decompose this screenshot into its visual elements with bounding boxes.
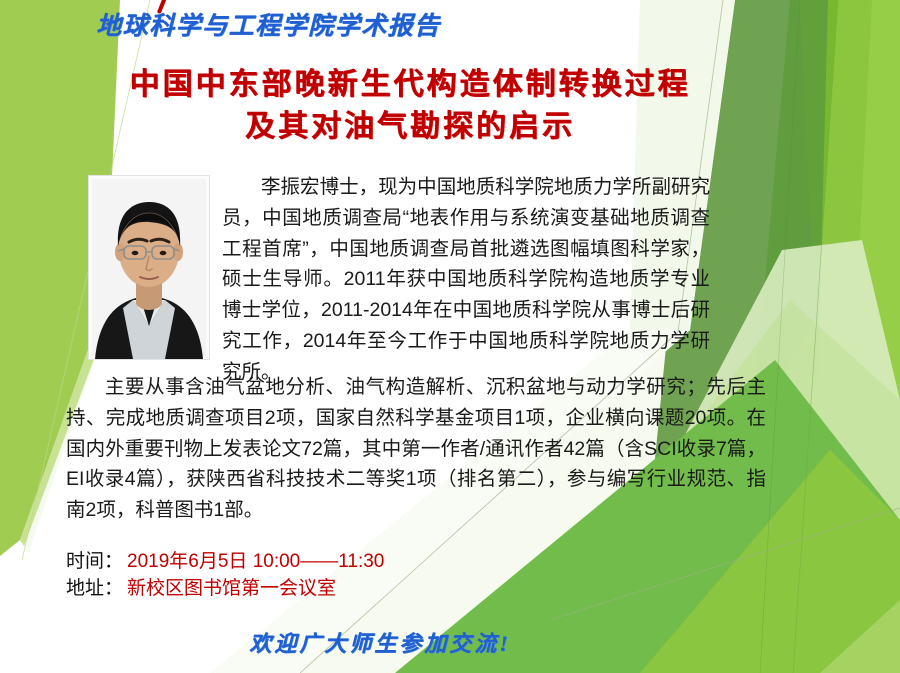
speaker-research-paragraph: 主要从事含油气盆地分析、油气构造解析、沉积盆地与动力学研究；先后主持、完成地质调… [66,372,766,526]
lecture-poster: 地球科学与工程学院学术报告 中国中东部晚新生代构造体制转换过程 及其对油气勘探的… [0,0,900,673]
department-header: 地球科学与工程学院学术报告 [96,6,716,42]
lecture-title: 中国中东部晚新生代构造体制转换过程 及其对油气勘探的启示 [70,64,750,148]
speaker-portrait-illustration [89,176,209,359]
speaker-bio-paragraph: 李振宏博士，现为中国地质科学院地质力学所副研究员，中国地质调查局“地表作用与系统… [222,172,710,388]
event-address-label: 地址： [66,578,123,599]
event-time-row: 时间：2019年6月5日 10:00——11:30 [66,548,626,575]
lecture-title-line-1: 中国中东部晚新生代构造体制转换过程 [70,64,750,106]
speaker-photo [89,176,209,359]
event-details: 时间：2019年6月5日 10:00——11:30 地址：新校区图书馆第一会议室 [66,548,626,602]
lecture-title-line-2: 及其对油气勘探的启示 [70,106,750,148]
event-address-row: 地址：新校区图书馆第一会议室 [66,575,626,602]
poster-content: 地球科学与工程学院学术报告 中国中东部晚新生代构造体制转换过程 及其对油气勘探的… [0,0,900,673]
event-address-value: 新校区图书馆第一会议室 [123,578,336,599]
event-time-value: 2019年6月5日 10:00——11:30 [123,551,384,572]
event-time-label: 时间： [66,551,123,572]
welcome-message: 欢迎广大师生参加交流! [0,626,760,658]
